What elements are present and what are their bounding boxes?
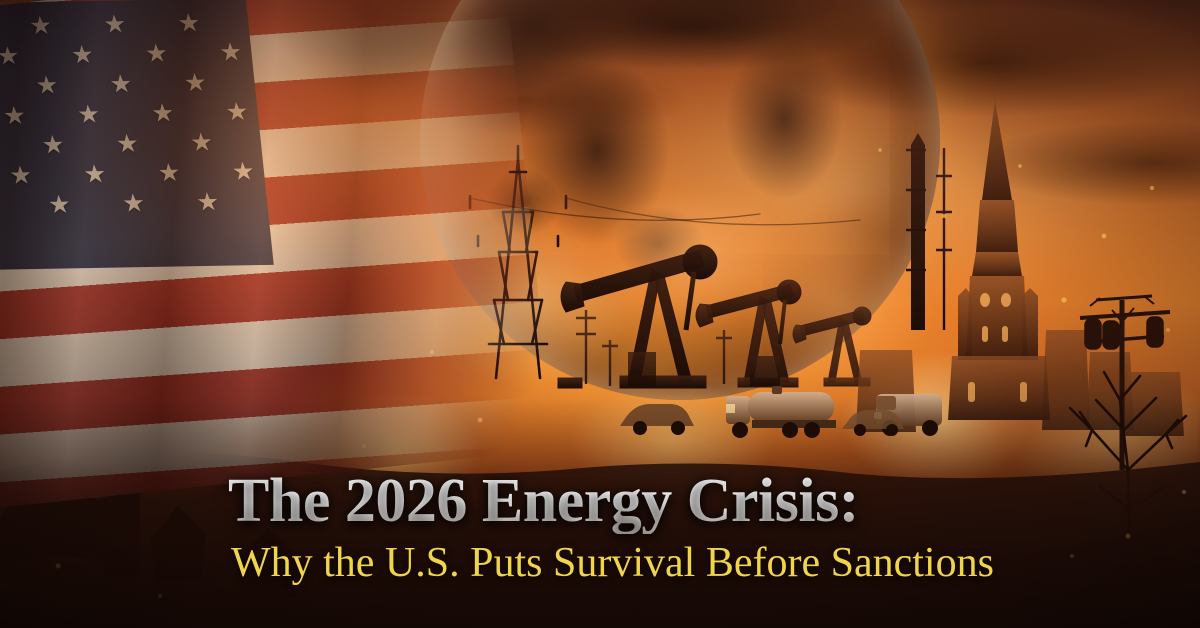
title-block: The 2026 Energy Crisis: Why the U.S. Put… <box>228 468 1028 586</box>
page-subtitle: Why the U.S. Puts Survival Before Sancti… <box>231 540 1028 586</box>
poster-canvas: ★ ★ ★ ★ ★ ★ ★ ★ ★ ★ ★ ★ ★ ★ ★ ★ ★ ★ ★ ★ … <box>0 0 1200 628</box>
page-title: The 2026 Energy Crisis: <box>228 468 1028 534</box>
